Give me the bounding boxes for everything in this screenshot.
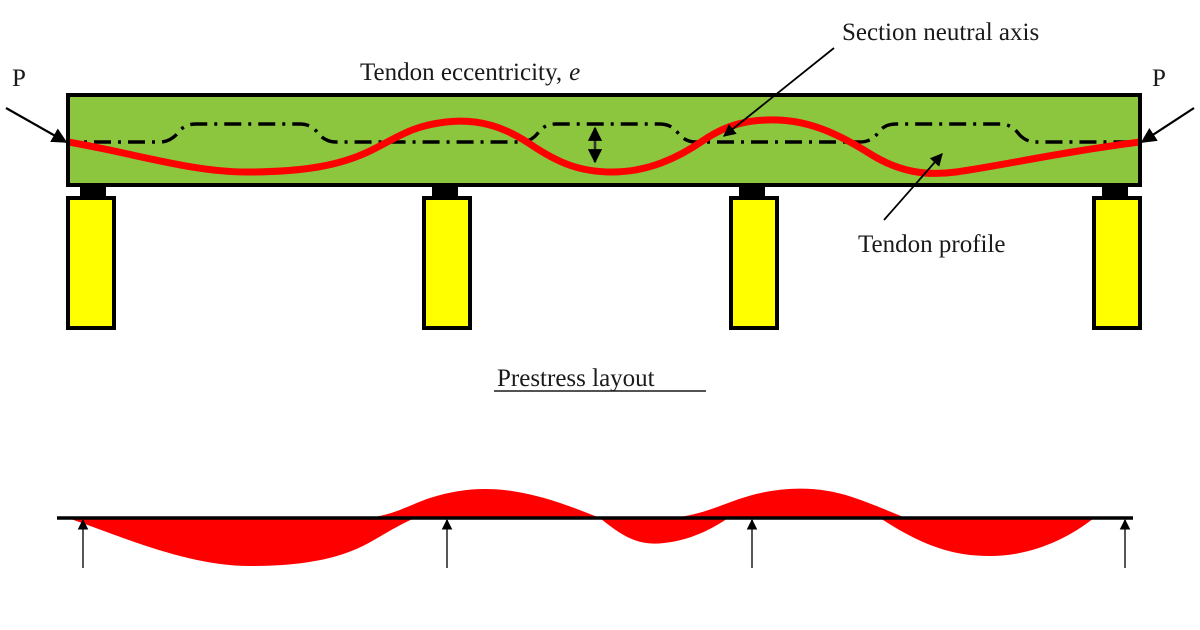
section-neutral-axis-label: Section neutral axis [842,19,1039,46]
column-body-2 [424,198,470,328]
force-arrow-right-icon [1142,108,1194,142]
column-body-4 [1094,198,1140,328]
tendon-eccentricity-symbol: e [569,59,580,86]
column-body-3 [731,198,777,328]
diagram-canvas: P P Tendon eccentricity,e Section neutra… [0,0,1200,630]
prestress-layout-figure: P P Tendon eccentricity,e Section neutra… [0,0,1200,630]
force-label-right: P [1152,65,1166,92]
figure-caption: Prestress layout [494,365,706,392]
prestress-layout-group: P P Tendon eccentricity,e Section neutra… [6,19,1194,392]
column-1 [68,185,114,328]
force-label-left: P [12,65,26,92]
bending-moment-diagram-group [57,489,1133,568]
moment-lobe-below [68,515,1094,566]
force-arrow-left-icon [6,108,66,142]
tendon-eccentricity-text: Tendon eccentricity, [360,59,562,86]
column-2 [424,185,470,328]
figure-caption-text: Prestress layout [497,365,655,392]
column-4 [1094,185,1140,328]
tendon-profile-label: Tendon profile [858,231,1006,258]
prestress-force-right: P [1142,65,1194,142]
tendon-eccentricity-annotation: Tendon eccentricity,e [360,59,580,86]
tendon-eccentricity-label: Tendon eccentricity,e [360,59,580,86]
moment-lobe-above [358,489,906,518]
column-3 [731,185,777,328]
prestress-force-left: P [6,65,66,142]
column-body-1 [68,198,114,328]
